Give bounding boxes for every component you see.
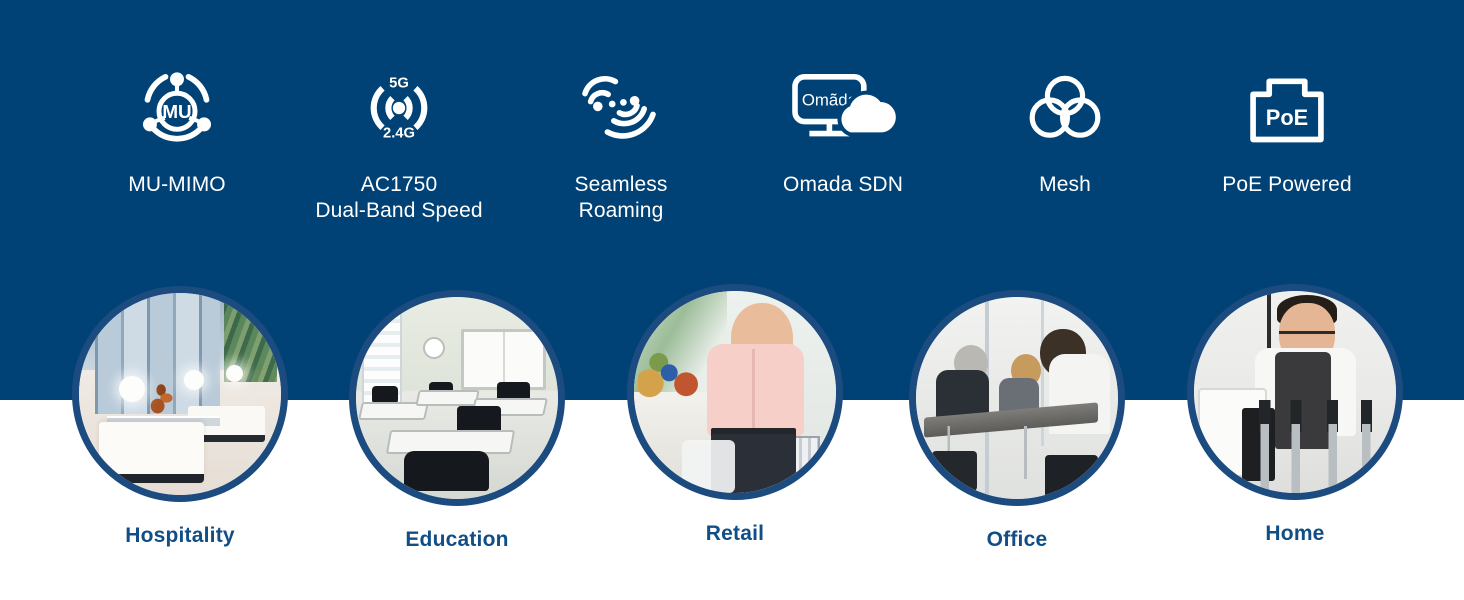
classroom-photo bbox=[349, 290, 565, 506]
seamless-roaming-icon bbox=[577, 66, 665, 150]
dual-band-icon: 5G 2.4G bbox=[358, 66, 440, 150]
feature-label: Seamless Roaming bbox=[574, 172, 667, 224]
feature-label: AC1750 Dual-Band Speed bbox=[315, 172, 482, 224]
feature-mesh: Mesh bbox=[954, 66, 1176, 198]
feature-dual-band: 5G 2.4G AC1750 Dual-Band Speed bbox=[288, 66, 510, 224]
feature-banner: MU MU-MIMO 5G 2.4G bbox=[0, 0, 1464, 600]
scenario-label: Retail bbox=[706, 522, 764, 546]
feature-poe-powered: PoE PoE Powered bbox=[1176, 66, 1398, 198]
retail-shopper-photo bbox=[627, 284, 843, 500]
office-meeting-photo bbox=[909, 290, 1125, 506]
scenario-home[interactable]: Home bbox=[1183, 284, 1407, 546]
scenario-education[interactable]: Education bbox=[345, 290, 569, 552]
feature-label: PoE Powered bbox=[1222, 172, 1352, 198]
scenario-retail[interactable]: Retail bbox=[623, 284, 847, 546]
scenario-list: Hospitality Education bbox=[0, 286, 1464, 586]
scenario-hospitality[interactable]: Hospitality bbox=[68, 286, 292, 548]
svg-text:PoE: PoE bbox=[1266, 105, 1308, 130]
mu-mimo-icon: MU bbox=[136, 66, 218, 150]
poe-icon: PoE bbox=[1245, 66, 1329, 150]
feature-omada-sdn: Omãda Omada SDN bbox=[732, 66, 954, 198]
svg-text:2.4G: 2.4G bbox=[383, 126, 415, 142]
feature-label: MU-MIMO bbox=[128, 172, 226, 198]
scenario-office[interactable]: Office bbox=[905, 290, 1129, 552]
svg-text:5G: 5G bbox=[389, 76, 409, 92]
scenario-label: Hospitality bbox=[125, 524, 235, 548]
hotel-lounge-photo bbox=[72, 286, 288, 502]
feature-mu-mimo: MU MU-MIMO bbox=[66, 66, 288, 198]
mesh-icon bbox=[1025, 66, 1105, 150]
omada-sdn-icon: Omãda bbox=[790, 66, 896, 150]
svg-text:MU: MU bbox=[162, 101, 191, 122]
feature-list: MU MU-MIMO 5G 2.4G bbox=[0, 66, 1464, 236]
feature-label: Omada SDN bbox=[783, 172, 903, 198]
scenario-label: Office bbox=[987, 528, 1048, 552]
scenario-label: Education bbox=[405, 528, 508, 552]
feature-label: Mesh bbox=[1039, 172, 1091, 198]
scenario-label: Home bbox=[1265, 522, 1324, 546]
home-barista-photo bbox=[1187, 284, 1403, 500]
feature-seamless-roaming: Seamless Roaming bbox=[510, 66, 732, 224]
